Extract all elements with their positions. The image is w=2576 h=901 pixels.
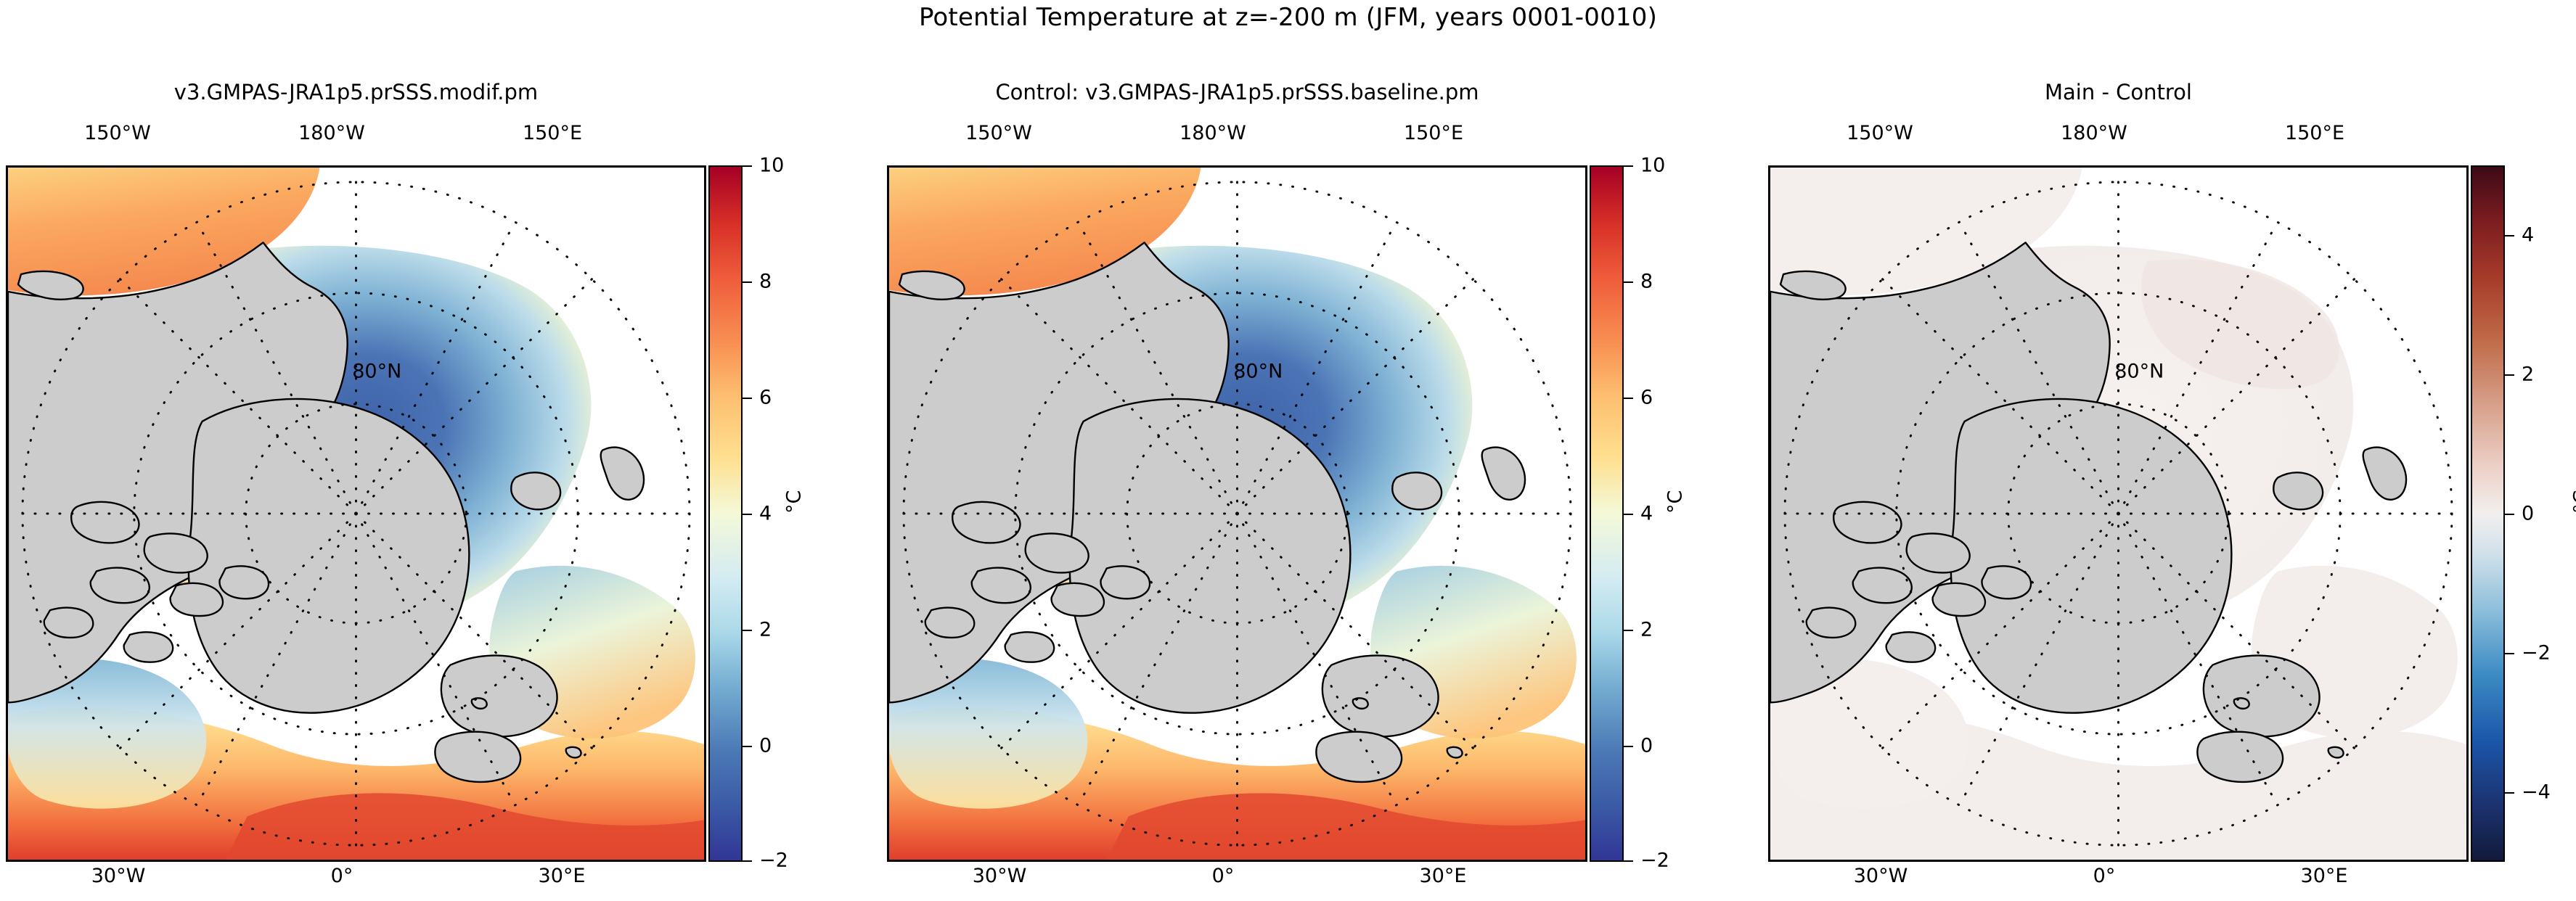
lon-label-150w: 150°W [965,122,1032,144]
colorbar-main[interactable]: 10 8 6 4 2 0 −2 °C [708,165,743,862]
colorbar-main-tick-2: 2 [759,619,772,641]
panel-control-map-svg [889,168,1585,860]
lon-label-180w: 180°W [2061,122,2127,144]
lon-label-150e: 150°E [2285,122,2344,144]
panel-main-lon-labels-top: 150°W 180°W 150°E [6,122,706,148]
panel-control-lon-labels-bottom: 30°W 0° 30°E [887,865,1587,891]
colorbar-control-unit: °C [1664,490,1687,514]
colorbar-control-tick-2: 2 [1640,619,1653,641]
figure-root: Potential Temperature at z=-200 m (JFM, … [0,0,2576,901]
colorbar-main-tick-4: 4 [759,503,772,525]
lon-label-0: 0° [331,865,353,887]
figure-suptitle: Potential Temperature at z=-200 m (JFM, … [0,3,2576,32]
colorbar-difference-tick-neg4: −4 [2522,781,2551,804]
colorbar-difference-tick-0: 0 [2522,503,2534,525]
panel-difference: Main - Control 150°W 180°W 150°E [1768,165,2469,862]
panel-main: v3.GMPAS-JRA1p5.prSSS.modif.pm 150°W 180… [6,165,706,862]
panel-difference-lon-labels-bottom: 30°W 0° 30°E [1768,865,2469,891]
lon-label-150w: 150°W [84,122,151,144]
panel-main-map[interactable]: 80°N [6,165,706,862]
colorbar-control-gradient [1590,165,1624,862]
colorbar-main-tick-0: 0 [759,735,772,757]
panel-difference-lon-labels-top: 150°W 180°W 150°E [1768,122,2469,148]
panel-control: Control: v3.GMPAS-JRA1p5.prSSS.baseline.… [887,165,1587,862]
colorbar-main-tick-8: 8 [759,271,772,293]
colorbar-control-tick-4: 4 [1640,503,1653,525]
colorbar-difference-tick-4: 4 [2522,224,2534,247]
panel-main-map-canvas [8,168,704,860]
colorbar-main-unit: °C [783,490,806,514]
colorbar-control-tick-8: 8 [1640,271,1653,293]
colorbar-main-tick-6: 6 [759,387,772,409]
lon-label-0: 0° [2093,865,2116,887]
lon-label-30w: 30°W [1854,865,1908,887]
lon-label-30e: 30°E [539,865,586,887]
colorbar-main-tick-neg2: −2 [759,849,788,872]
colorbar-control-tick-10: 10 [1640,155,1665,177]
colorbar-main-gradient [708,165,743,862]
lon-label-180w: 180°W [1179,122,1246,144]
lon-label-30w: 30°W [91,865,146,887]
colorbar-difference-unit: °C [2570,490,2576,514]
colorbar-control-tick-6: 6 [1640,387,1653,409]
panel-control-map[interactable]: 80°N [887,165,1587,862]
panel-difference-title: Main - Control [1768,80,2469,104]
colorbar-difference-tick-neg2: −2 [2522,642,2551,665]
colorbar-control-tick-0: 0 [1640,735,1653,757]
colorbar-main-tick-10: 10 [759,155,784,177]
lon-label-30e: 30°E [2301,865,2348,887]
colorbar-control[interactable]: 10 8 6 4 2 0 −2 °C [1590,165,1624,862]
panel-difference-map-canvas [1770,168,2466,860]
colorbar-difference[interactable]: 4 2 0 −2 −4 °C [2471,165,2505,862]
panel-main-title: v3.GMPAS-JRA1p5.prSSS.modif.pm [6,80,706,104]
lon-label-0: 0° [1212,865,1235,887]
lon-label-150e: 150°E [1404,122,1463,144]
panel-difference-map[interactable]: 80°N [1768,165,2469,862]
panel-control-lon-labels-top: 150°W 180°W 150°E [887,122,1587,148]
panel-main-lon-labels-bottom: 30°W 0° 30°E [6,865,706,891]
lon-label-180w: 180°W [298,122,365,144]
lon-label-30e: 30°E [1420,865,1467,887]
panel-difference-map-svg [1770,168,2466,860]
colorbar-difference-gradient [2471,165,2505,862]
panel-main-map-svg [8,168,704,860]
panel-control-map-canvas [889,168,1585,860]
lon-label-150e: 150°E [523,122,582,144]
colorbar-difference-tick-2: 2 [2522,363,2534,386]
lon-label-150w: 150°W [1847,122,1913,144]
panel-control-title: Control: v3.GMPAS-JRA1p5.prSSS.baseline.… [887,80,1587,104]
lon-label-30w: 30°W [973,865,1027,887]
colorbar-control-tick-neg2: −2 [1640,849,1669,872]
